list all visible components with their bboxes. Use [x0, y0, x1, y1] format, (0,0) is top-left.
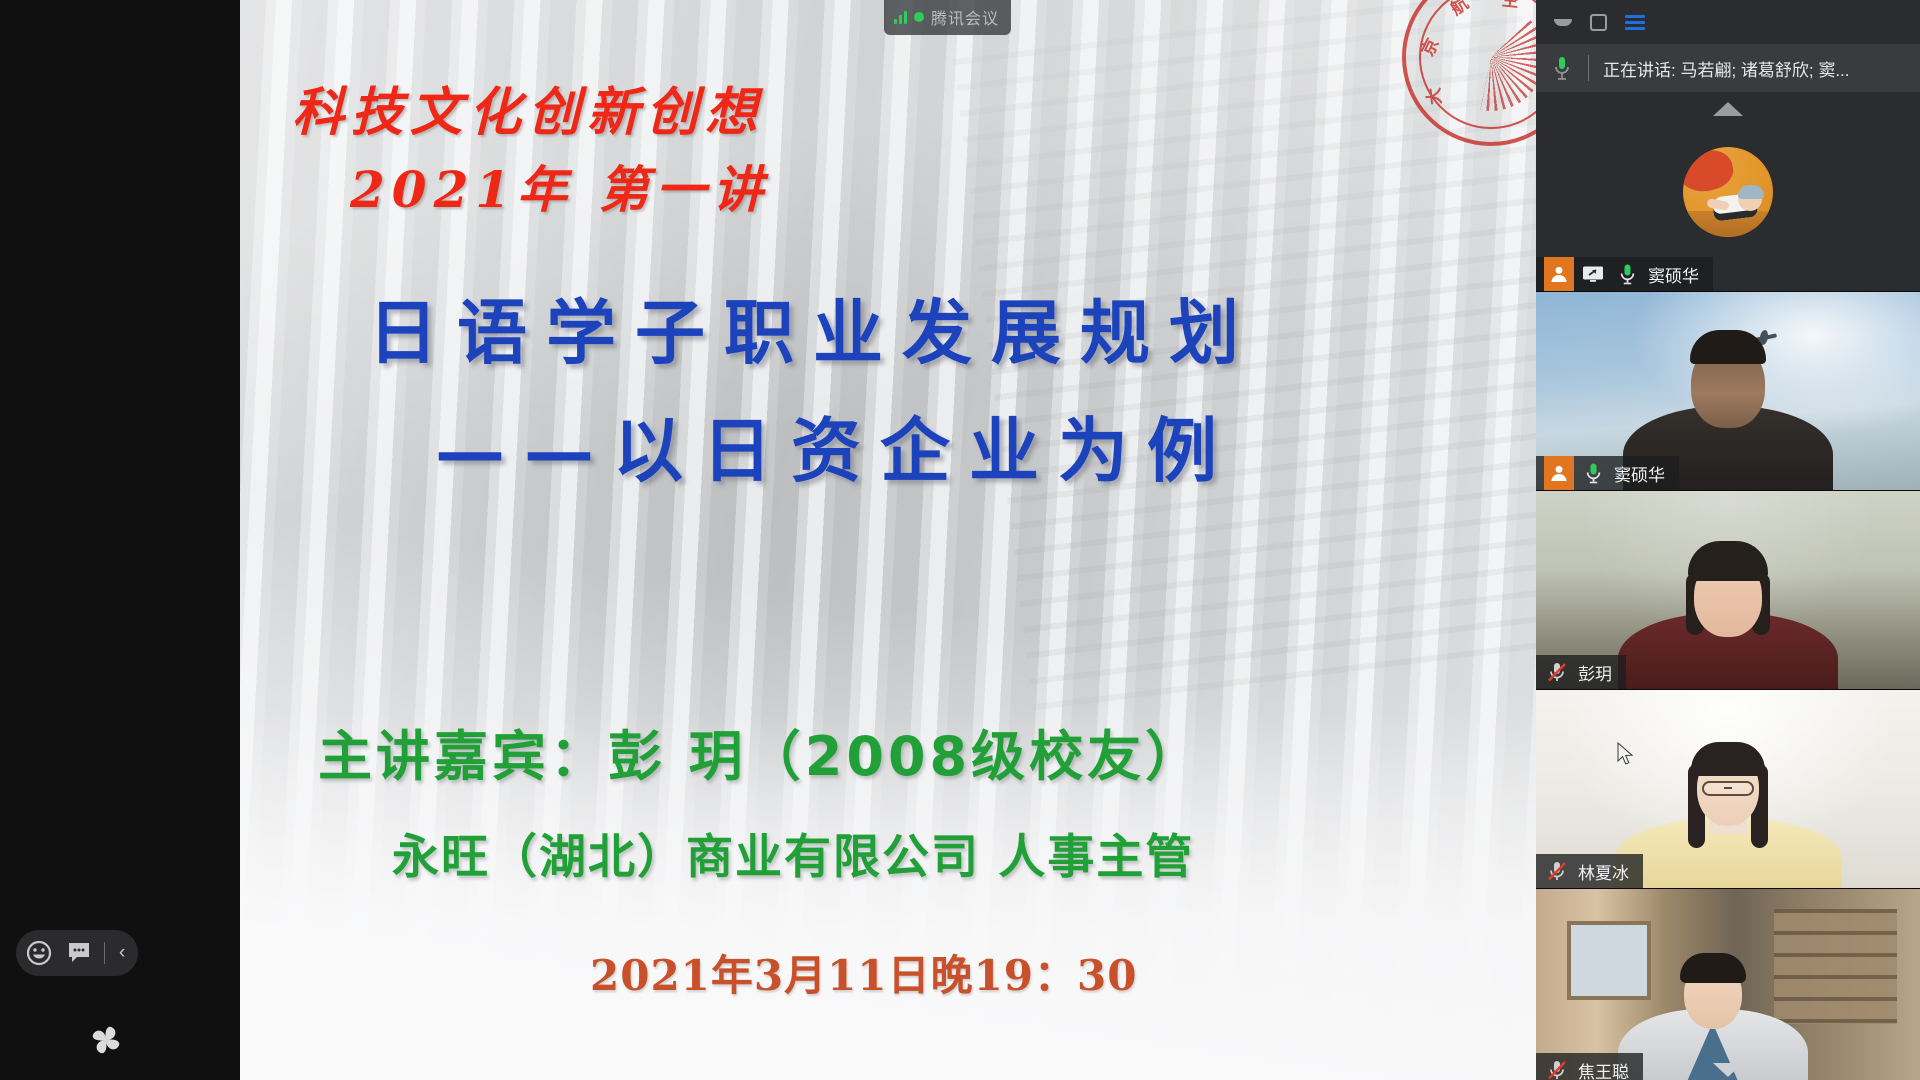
microphone-active-icon — [1580, 456, 1606, 490]
slide-text-layer: 科技文化创新创想 2021年 第一讲 日语学子职业发展规划 ——以日资企业为例 … — [240, 0, 1536, 1080]
left-gutter — [0, 0, 240, 1080]
slide-date-line: 2021年3月11日晚19：30 — [590, 942, 1137, 1003]
minimize-icon[interactable] — [1554, 19, 1572, 26]
participant-name-badge: 窦硕华 — [1536, 257, 1713, 291]
control-divider — [104, 942, 105, 964]
participant-tile[interactable]: 彭玥 — [1536, 490, 1920, 689]
speaking-indicator-text: 正在讲话: 马若翩; 诸葛舒欣; 窦... — [1589, 56, 1850, 81]
panel-titlebar — [1536, 0, 1920, 44]
host-icon — [1544, 456, 1574, 490]
slide-company-line: 永旺（湖北）商业有限公司 人事主管 — [392, 818, 1194, 887]
shared-screen-slide[interactable]: 航 京 大 空 科技文化创新创想 2021年 第一讲 日语学子职业发展规划 ——… — [240, 0, 1536, 1080]
microphone-muted-icon — [1544, 655, 1570, 689]
triangle-down-icon[interactable] — [1713, 1063, 1743, 1077]
participant-name-badge: 彭玥 — [1536, 655, 1626, 689]
slide-subtitle: ——以日资企业为例 — [435, 395, 1236, 496]
tencent-meeting-label: 腾讯会议 — [931, 5, 999, 29]
participant-name: 窦硕华 — [1614, 461, 1665, 486]
recording-dot-icon — [914, 12, 924, 22]
cartoon-avatar-icon — [1683, 147, 1773, 237]
triangle-up-icon[interactable] — [1713, 102, 1743, 116]
participant-name: 焦王聪 — [1578, 1058, 1629, 1080]
microphone-muted-icon — [1544, 854, 1570, 888]
chat-bubble-icon[interactable] — [64, 938, 94, 968]
slide-main-title: 日语学子职业发展规划 — [368, 277, 1258, 378]
speaking-indicator-bar: 正在讲话: 马若翩; 诸葛舒欣; 窦... — [1536, 44, 1920, 92]
chevron-left-icon[interactable]: ‹ — [115, 942, 132, 964]
tencent-meeting-badge: 腾讯会议 — [884, 0, 1011, 35]
participants-panel: 正在讲话: 马若翩; 诸葛舒欣; 窦... — [1536, 0, 1920, 1080]
participant-video-feed — [1536, 889, 1920, 1080]
slide-guest-line: 主讲嘉宾：彭 玥（2008级校友） — [318, 712, 1203, 791]
participant-tile[interactable]: 林夏冰 — [1536, 689, 1920, 888]
overlay-control-bar: ‹ — [16, 930, 138, 976]
maximize-icon[interactable] — [1590, 14, 1607, 31]
emoji-smile-icon[interactable] — [24, 938, 54, 968]
host-icon — [1544, 257, 1574, 291]
pinwheel-logo-icon — [86, 1020, 126, 1060]
signal-bars-icon — [894, 11, 907, 24]
microphone-active-icon — [1614, 257, 1640, 291]
participant-name: 彭玥 — [1578, 660, 1612, 685]
participant-name: 林夏冰 — [1578, 859, 1629, 884]
meeting-window: 航 京 大 空 科技文化创新创想 2021年 第一讲 日语学子职业发展规划 ——… — [0, 0, 1920, 1080]
hamburger-menu-icon[interactable] — [1625, 15, 1645, 30]
participant-tile[interactable]: 窦硕华 — [1536, 92, 1920, 291]
participant-name-badge: 焦王聪 — [1536, 1053, 1643, 1080]
participant-tile[interactable]: 焦王聪 — [1536, 888, 1920, 1080]
participant-name-badge: 林夏冰 — [1536, 854, 1643, 888]
screen-share-icon — [1580, 257, 1606, 291]
participant-tiles-list[interactable]: 窦硕华 — [1536, 92, 1920, 1080]
slide-kicker-line-1: 科技文化创新创想 — [292, 70, 764, 145]
participant-name-badge: 窦硕华 — [1536, 456, 1679, 490]
slide-kicker-line-2: 2021年 第一讲 — [350, 150, 770, 222]
microphone-muted-icon — [1544, 1053, 1570, 1080]
participant-tile[interactable]: 窦硕华 — [1536, 291, 1920, 490]
participant-name: 窦硕华 — [1648, 262, 1699, 287]
microphone-active-icon — [1536, 55, 1588, 81]
